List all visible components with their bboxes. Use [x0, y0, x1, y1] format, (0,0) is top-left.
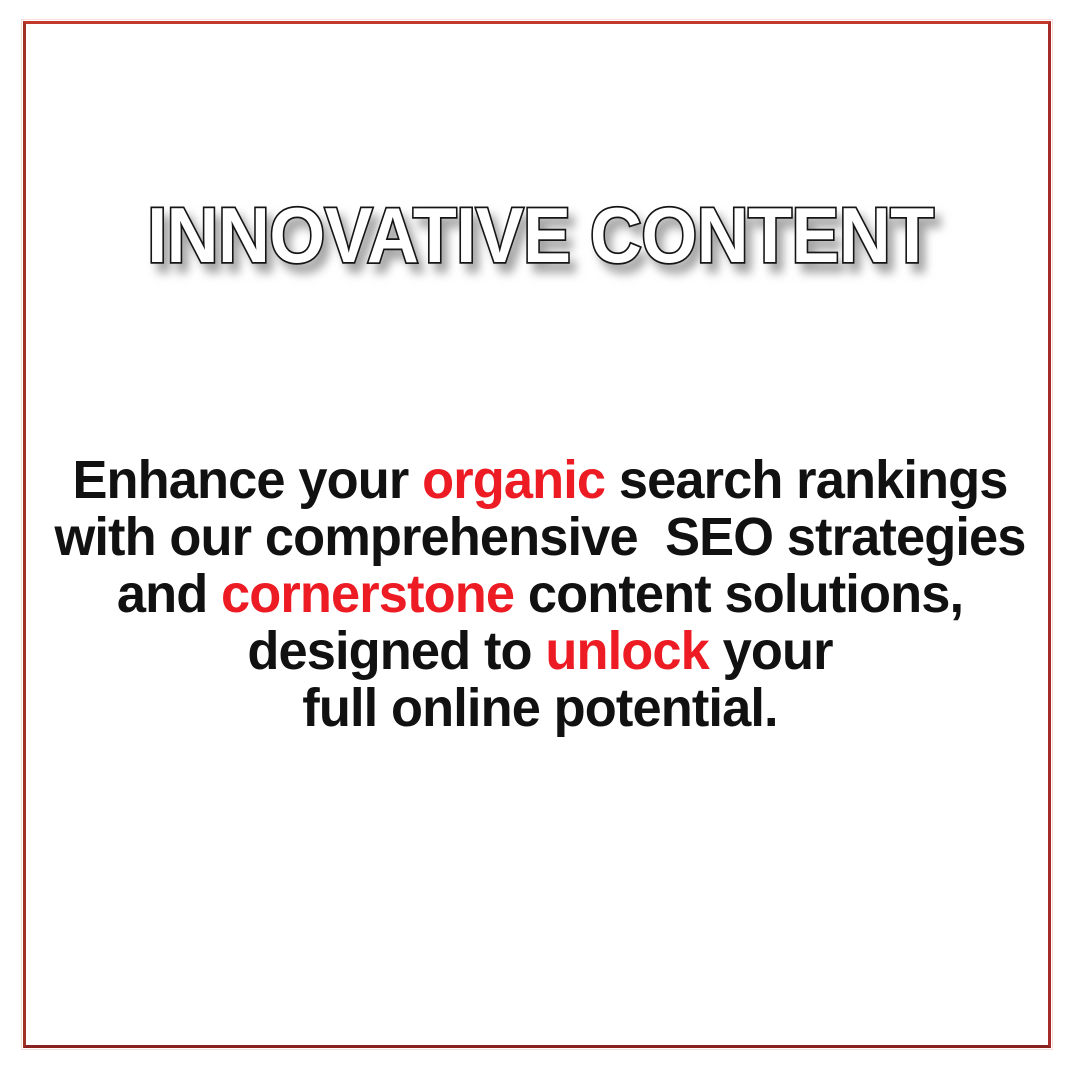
body-paragraph: Enhance your organic search rankingswith…	[0, 452, 1080, 737]
highlighted-keyword: organic	[422, 450, 605, 510]
body-text-segment: and	[117, 564, 221, 624]
body-line: full online potential.	[16, 680, 1064, 737]
headline-container: INNOVATIVE CONTENT	[0, 196, 1080, 274]
body-text-segment: designed to	[247, 621, 545, 681]
body-text-segment: full online potential.	[302, 678, 777, 738]
body-text-segment: search rankings	[605, 450, 1007, 510]
page-title: INNOVATIVE CONTENT	[147, 196, 933, 274]
promo-graphic-canvas: INNOVATIVE CONTENT Enhance your organic …	[0, 0, 1080, 1080]
body-line: and cornerstone content solutions,	[16, 566, 1064, 623]
body-line: Enhance your organic search rankings	[16, 452, 1064, 509]
body-text-segment: your	[709, 621, 833, 681]
body-line: designed to unlock your	[16, 623, 1064, 680]
highlighted-keyword: unlock	[545, 621, 709, 681]
body-text-segment: Enhance your	[72, 450, 422, 510]
body-text-segment: content solutions,	[514, 564, 963, 624]
body-text-segment: with our comprehensive SEO strategies	[54, 507, 1025, 567]
highlighted-keyword: cornerstone	[221, 564, 514, 624]
body-line: with our comprehensive SEO strategies	[16, 509, 1064, 566]
